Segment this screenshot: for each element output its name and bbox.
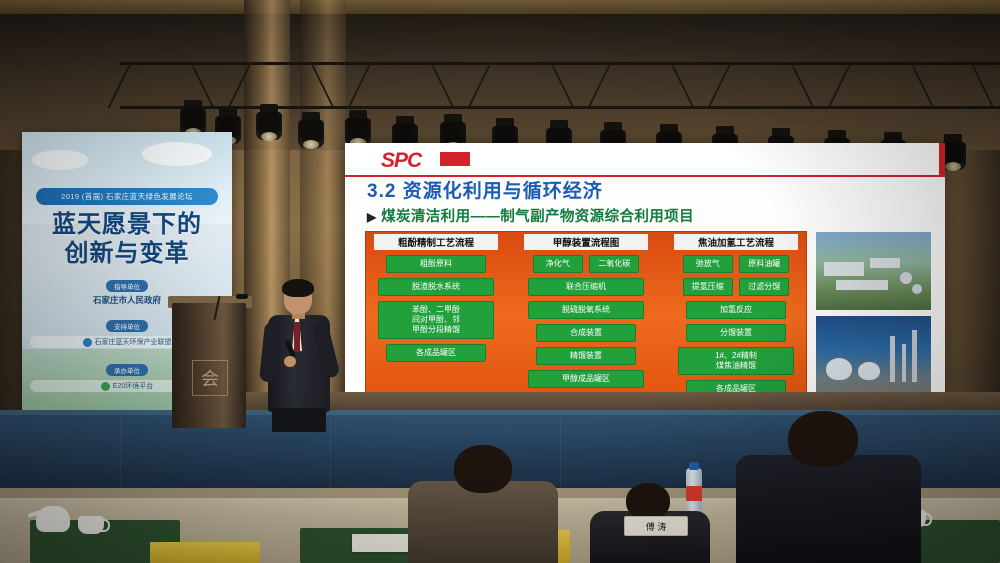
flow-column-tar-hydrogenation: 焦油加氢工艺流程 弛放气 原料油罐 提氢压缩 过滤分馏 加氢反应 分馏装置 1#… bbox=[666, 234, 806, 403]
flow-box-pair: 弛放气 原料油罐 bbox=[666, 255, 806, 278]
spc-logo: SPC bbox=[381, 149, 421, 173]
flow-box: 1#、2#精制 煤焦油精馏 bbox=[678, 347, 794, 375]
flow-box: 提氢压缩 bbox=[683, 278, 733, 296]
slide-section-heading: 3.2 资源化利用与循环经济 bbox=[367, 176, 603, 203]
spc-logo-block-icon bbox=[440, 152, 470, 166]
teacup bbox=[78, 516, 104, 534]
flow-box: 甲醇成品罐区 bbox=[528, 370, 644, 388]
microphone-head-icon bbox=[236, 294, 248, 299]
flow-box: 联合压缩机 bbox=[528, 278, 644, 296]
banner-guidance-label: 指导单位 bbox=[106, 280, 148, 292]
flow-column-methanol: 甲醇装置流程图 净化气 二氧化碳 联合压缩机 脱硫脱氧系统 合成装置 精馏装置 … bbox=[516, 234, 656, 393]
audience-head bbox=[626, 483, 670, 519]
flow-box: 粗酚原料 bbox=[386, 255, 486, 273]
flow-column-header: 甲醇装置流程图 bbox=[524, 234, 648, 250]
conference-photo: 2019 (首届) 石家庄蓝天绿色发展论坛 蓝天愿景下的 创新与变革 指导单位 … bbox=[0, 0, 1000, 563]
audience-torso bbox=[736, 455, 921, 563]
speaker-hair bbox=[282, 279, 314, 297]
flow-box: 合成装置 bbox=[536, 324, 636, 342]
banner-cloud bbox=[32, 150, 88, 170]
speaker-person bbox=[262, 282, 336, 430]
support-logo-icon bbox=[83, 338, 92, 347]
slide-bullet-text: 煤炭清洁利用——制气副产物资源综合利用项目 bbox=[381, 209, 694, 225]
flow-box: 弛放气 bbox=[683, 255, 733, 273]
flow-box: 脱硫脱氧系统 bbox=[528, 301, 644, 319]
audience-head bbox=[788, 411, 858, 467]
stage-panel-seam bbox=[120, 418, 121, 488]
host-logo-icon bbox=[101, 382, 110, 391]
flow-box-pair: 净化气 二氧化碳 bbox=[516, 255, 656, 278]
banner-support-org: 石家庄蓝天环保产业联盟 bbox=[95, 337, 172, 347]
stage-panel-seam bbox=[560, 418, 561, 488]
flow-box: 各成品罐区 bbox=[386, 344, 486, 362]
podium-emblem: 会 bbox=[192, 360, 228, 396]
ceiling-gold-trim bbox=[0, 0, 1000, 14]
flow-box: 苯酚、二甲酚 间对甲酚、邻 甲酚分段精馏 bbox=[378, 301, 494, 339]
plant-aerial-photo bbox=[815, 231, 932, 311]
flow-box: 精馏装置 bbox=[536, 347, 636, 365]
flow-box: 原料油罐 bbox=[739, 255, 789, 273]
flow-box-pair: 提氢压缩 过滤分馏 bbox=[666, 278, 806, 301]
flow-box: 脱渣脱水系统 bbox=[378, 278, 494, 296]
audience-member bbox=[736, 413, 921, 563]
conference-folder bbox=[150, 542, 260, 563]
flow-column-header: 粗酚精制工艺流程 bbox=[374, 234, 498, 250]
bullet-triangle-icon: ▶ bbox=[367, 210, 377, 224]
audience-head bbox=[454, 445, 512, 493]
stage-light bbox=[298, 112, 324, 156]
stage-light bbox=[256, 104, 282, 148]
banner-title-line1: 蓝天愿景下的 bbox=[30, 210, 224, 239]
banner-cloud bbox=[142, 142, 212, 166]
slide-header-right-tab bbox=[939, 143, 945, 177]
lighting-truss bbox=[120, 62, 1000, 118]
banner-forum-line: 2019 (首届) 石家庄蓝天绿色发展论坛 bbox=[36, 188, 218, 205]
refinery-photo bbox=[815, 315, 932, 401]
name-placard: 傅 涛 bbox=[624, 516, 688, 536]
flow-box: 加氢反应 bbox=[686, 301, 786, 319]
banner-host-org: E20环境平台 bbox=[113, 381, 153, 391]
audience-torso bbox=[408, 481, 558, 563]
banner-host-label: 承办单位 bbox=[106, 364, 148, 376]
banner-title-line2: 创新与变革 bbox=[30, 239, 224, 268]
flow-box: 过滤分馏 bbox=[739, 278, 789, 296]
flow-column-crude-phenol: 粗酚精制工艺流程 粗酚原料 脱渣脱水系统 苯酚、二甲酚 间对甲酚、邻 甲酚分段精… bbox=[366, 234, 506, 367]
audience-member bbox=[408, 448, 558, 563]
flow-column-header: 焦油加氢工艺流程 bbox=[674, 234, 798, 250]
banner-support-label: 支持单位 bbox=[106, 320, 148, 332]
flow-box: 二氧化碳 bbox=[589, 255, 639, 273]
slide-header-bar bbox=[345, 143, 945, 176]
flow-box: 分馏装置 bbox=[686, 324, 786, 342]
slide-section-number: 3.2 bbox=[367, 181, 396, 202]
teapot bbox=[36, 506, 70, 532]
name-placard-text: 傅 涛 bbox=[646, 520, 667, 533]
speaker-tie bbox=[294, 322, 300, 352]
banner-title: 蓝天愿景下的 创新与变革 bbox=[30, 210, 224, 268]
flow-box: 净化气 bbox=[533, 255, 583, 273]
speaker-hand bbox=[284, 356, 296, 367]
slide-bullet: ▶ 煤炭清洁利用——制气副产物资源综合利用项目 bbox=[367, 205, 694, 226]
slide-section-title: 资源化利用与循环经济 bbox=[403, 181, 603, 202]
process-flow-diagram: 粗酚精制工艺流程 粗酚原料 脱渣脱水系统 苯酚、二甲酚 间对甲酚、邻 甲酚分段精… bbox=[365, 231, 807, 401]
speaker-legs bbox=[272, 408, 326, 432]
